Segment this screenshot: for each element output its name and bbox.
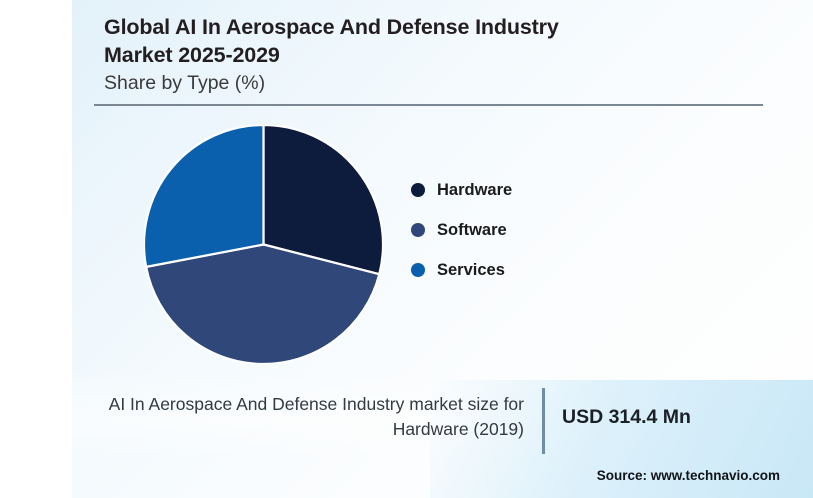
source-attribution: Source: www.technavio.com — [597, 468, 780, 483]
footer-description: AI In Aerospace And Defense Industry mar… — [0, 392, 524, 442]
footer-callout: AI In Aerospace And Defense Industry mar… — [0, 386, 813, 456]
legend-item-hardware[interactable]: Hardware — [411, 170, 611, 210]
pie-chart-svg — [144, 125, 383, 364]
page-title: Global AI In Aerospace And Defense Indus… — [104, 14, 764, 69]
footer-description-line-2: Hardware (2019) — [393, 419, 524, 439]
legend-item-label: Hardware — [437, 181, 512, 200]
chart-legend: Hardware Software Services — [411, 170, 611, 290]
circle-bullet-icon — [411, 223, 425, 237]
header-divider — [94, 104, 763, 106]
pie-slice-group — [144, 125, 383, 364]
legend-item-software[interactable]: Software — [411, 210, 611, 250]
circle-bullet-icon — [411, 183, 425, 197]
chart-title-line-2: Market 2025-2029 — [104, 43, 280, 67]
legend-item-label: Services — [437, 261, 505, 280]
legend-item-services[interactable]: Services — [411, 250, 611, 290]
pie-chart — [144, 125, 383, 364]
circle-bullet-icon — [411, 263, 425, 277]
chart-canvas: Global AI In Aerospace And Defense Indus… — [0, 0, 813, 498]
chart-title-line-1: Global AI In Aerospace And Defense Indus… — [104, 15, 559, 39]
market-size-value: USD 314.4 Mn — [562, 406, 691, 429]
footer-vertical-divider — [542, 388, 545, 454]
legend-item-label: Software — [437, 221, 507, 240]
chart-subtitle: Share by Type (%) — [104, 71, 764, 95]
chart-header: Global AI In Aerospace And Defense Indus… — [104, 14, 764, 95]
footer-description-line-1: AI In Aerospace And Defense Industry mar… — [109, 394, 524, 414]
pie-slice-services[interactable] — [144, 125, 263, 267]
